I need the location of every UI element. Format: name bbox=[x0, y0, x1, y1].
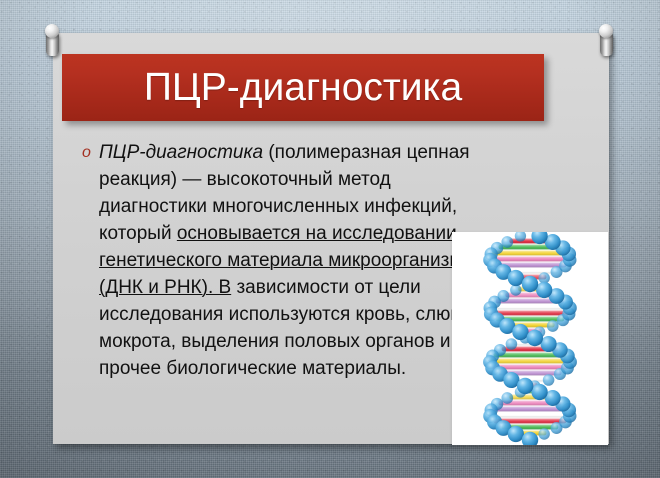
title-plate: ПЦР-диагностика bbox=[62, 54, 544, 121]
body-bullet-item: o ПЦР-диагностика (полимеразная цепная р… bbox=[82, 139, 502, 382]
body-lead-term: ПЦР-диагностика bbox=[99, 142, 263, 163]
dna-helix-figure bbox=[452, 232, 608, 445]
presentation-slide: ПЦР-диагностика o ПЦР-диагностика (полим… bbox=[0, 0, 660, 478]
bullet-marker-icon: o bbox=[82, 139, 99, 166]
dna-double-helix-icon bbox=[452, 232, 608, 445]
pushpin-left-icon bbox=[44, 24, 61, 58]
pushpin-right-icon bbox=[598, 24, 615, 58]
body-paragraph: ПЦР-диагностика (полимеразная цепная реа… bbox=[99, 139, 502, 382]
pushpin-head bbox=[599, 24, 613, 38]
slide-title: ПЦР-диагностика bbox=[144, 68, 462, 107]
pushpin-head bbox=[45, 24, 59, 38]
